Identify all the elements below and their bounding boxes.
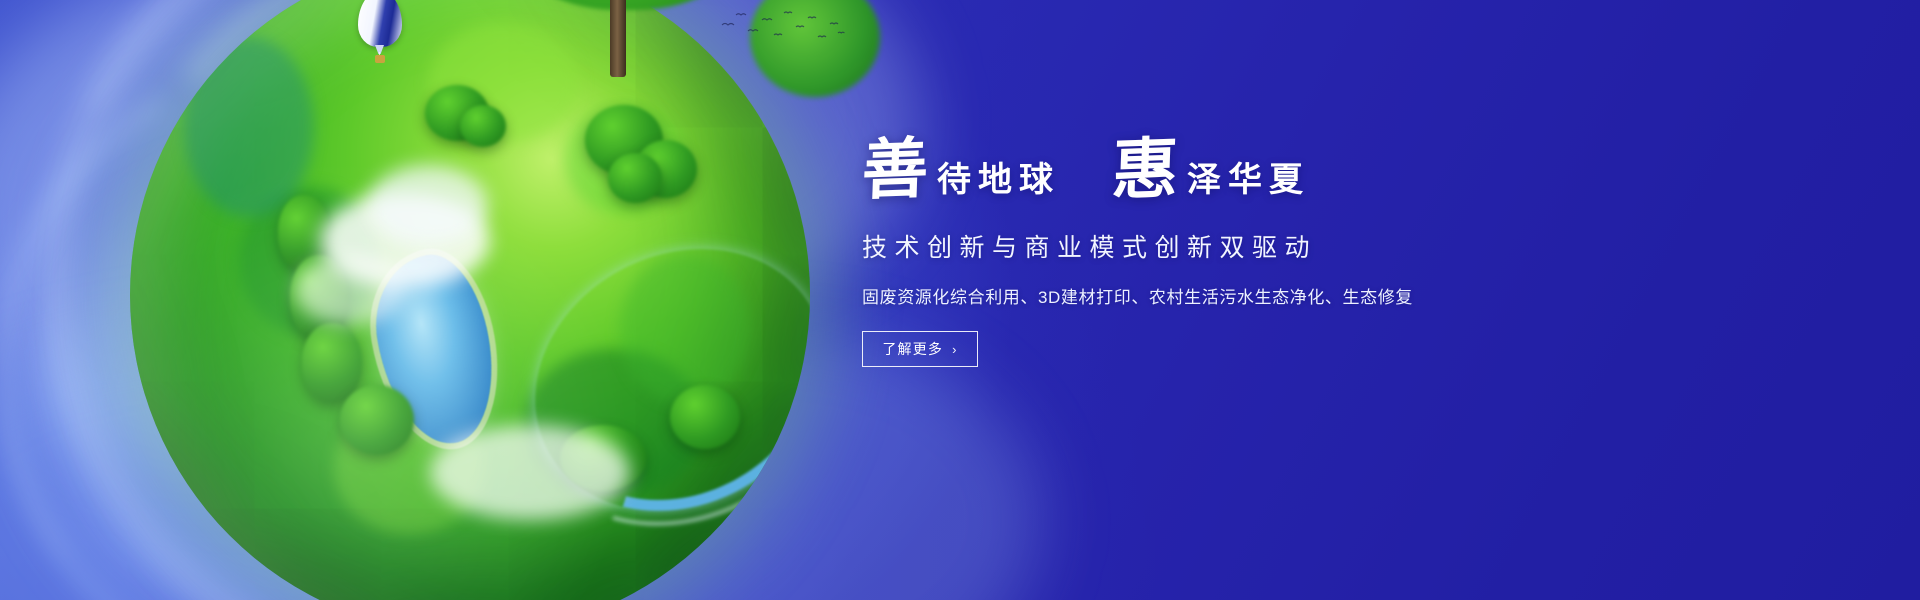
planet-cloud bbox=[368, 165, 488, 245]
planet-cloud bbox=[320, 193, 490, 288]
headline-char-hui: 惠 bbox=[1111, 137, 1180, 205]
grass-patch bbox=[429, 23, 579, 143]
hot-air-balloon-basket bbox=[375, 55, 385, 63]
hero-subtitle: 技术创新与商业模式创新双驱动 bbox=[862, 228, 1562, 264]
planet-cloud bbox=[295, 255, 405, 325]
planet-cloud bbox=[430, 425, 630, 520]
grass-patch bbox=[620, 254, 750, 404]
headline-rest-daiqiu: 待地球 bbox=[937, 164, 1060, 204]
tree-canopy-icon bbox=[302, 323, 362, 403]
tree-canopy-icon bbox=[560, 425, 646, 491]
tree-canopy-icon bbox=[340, 385, 414, 455]
tree-canopy-icon bbox=[460, 105, 506, 147]
tree-canopy-icon bbox=[635, 140, 697, 198]
tree-canopy-icon bbox=[585, 105, 663, 175]
main-tree-trunk-icon bbox=[610, 0, 626, 77]
hero-banner: 善 待地球 惠 泽华夏 技术创新与商业模式创新双驱动 固废资源化综合利用、3D建… bbox=[0, 0, 1920, 600]
chevron-right-icon: › bbox=[952, 342, 958, 357]
river-icon bbox=[489, 199, 810, 561]
grass-patch bbox=[565, 105, 685, 215]
tree-canopy-icon bbox=[290, 255, 348, 341]
hot-air-balloon-icon bbox=[358, 0, 402, 47]
green-planet-illustration bbox=[130, 0, 810, 600]
headline-rest-zehuaxia: 泽华夏 bbox=[1187, 164, 1310, 204]
tree-canopy-icon bbox=[425, 85, 489, 141]
birds-flock-icon bbox=[718, 5, 848, 47]
river-highlight bbox=[471, 187, 810, 579]
grass-patch bbox=[239, 186, 379, 336]
tree-canopy-icon bbox=[670, 385, 740, 449]
grass-patch bbox=[334, 404, 484, 534]
tree-canopy-icon bbox=[278, 195, 330, 271]
lake-icon bbox=[364, 247, 505, 453]
headline-char-shan: 善 bbox=[861, 137, 930, 205]
hero-headline: 善 待地球 惠 泽华夏 bbox=[862, 124, 1562, 204]
learn-more-button[interactable]: 了解更多 › bbox=[862, 331, 978, 367]
hero-description: 固废资源化综合利用、3D建材打印、农村生活污水生态净化、生态修复 bbox=[862, 283, 1562, 308]
grass-patch bbox=[184, 37, 314, 217]
hero-content: 善 待地球 惠 泽华夏 技术创新与商业模式创新双驱动 固废资源化综合利用、3D建… bbox=[862, 124, 1562, 367]
tree-canopy-icon bbox=[608, 153, 662, 203]
grass-patch bbox=[524, 349, 704, 499]
learn-more-label: 了解更多 bbox=[882, 339, 943, 359]
globe-sphere bbox=[130, 0, 810, 600]
